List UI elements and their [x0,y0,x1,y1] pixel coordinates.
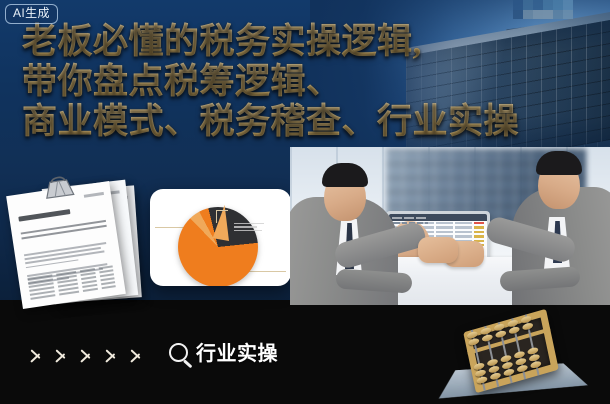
document-header-mark [84,192,104,198]
mosaic-tile [533,10,543,20]
pie-dark-slice-label [234,223,264,233]
title-line-3: 商业模式、税务稽查、行业实操 [22,102,602,142]
mosaic-tile [513,0,523,10]
mosaic-tile [563,10,573,20]
mosaic-tile [563,0,573,10]
document-sheet-front [6,181,126,309]
hand-left [418,237,458,263]
mosaic-tile [523,10,533,20]
mosaic-tile [543,10,553,20]
documents-stack [2,172,142,307]
binder-clip-icon [40,172,77,202]
title-line-2: 带你盘点税筹逻辑、 [22,62,602,102]
blurred-watermark-patch [513,0,573,19]
pie-chart: % [178,199,264,285]
chevron-right-icon [80,344,93,366]
search-icon-handle [183,359,192,368]
mosaic-tile [513,10,523,20]
chevron-right-icon [105,344,118,366]
poster-canvas: AI生成 老板必懂的税务实操逻辑, 带你盘点税筹逻辑、 商业模式、税务稽查、行业… [0,0,610,404]
businessman-right [472,155,610,305]
document-paragraph-1 [21,220,108,243]
mosaic-tile [543,0,553,10]
handshake-photo [290,147,610,305]
title-line-1: 老板必懂的税务实操逻辑, [22,22,602,62]
search-icon [168,340,194,368]
chevron-right-icon [130,344,143,366]
mosaic-tile [533,0,543,10]
chart-callout-tick-2 [216,210,228,211]
mosaic-tile [553,0,563,10]
poster-title: 老板必懂的税务实操逻辑, 带你盘点税筹逻辑、 商业模式、税务稽查、行业实操 [22,22,602,142]
chevron-right-icon [55,344,68,366]
chart-callout-tick [216,211,217,223]
mosaic-tile [553,10,563,20]
pie-slices [178,207,258,286]
pie-chart-card: % [150,189,291,286]
search-label-text: 行业实操 [196,343,278,365]
ai-generated-badge: AI生成 [5,4,58,24]
document-heading [18,209,70,222]
industry-practice-label: 行业实操 [168,340,278,368]
chevron-arrow-group [30,344,143,366]
hair [322,163,368,187]
hair [536,151,582,175]
mosaic-tile [523,0,533,10]
chevron-right-icon [30,344,43,366]
businessman-left [290,165,434,305]
abacus-scene [452,316,610,404]
